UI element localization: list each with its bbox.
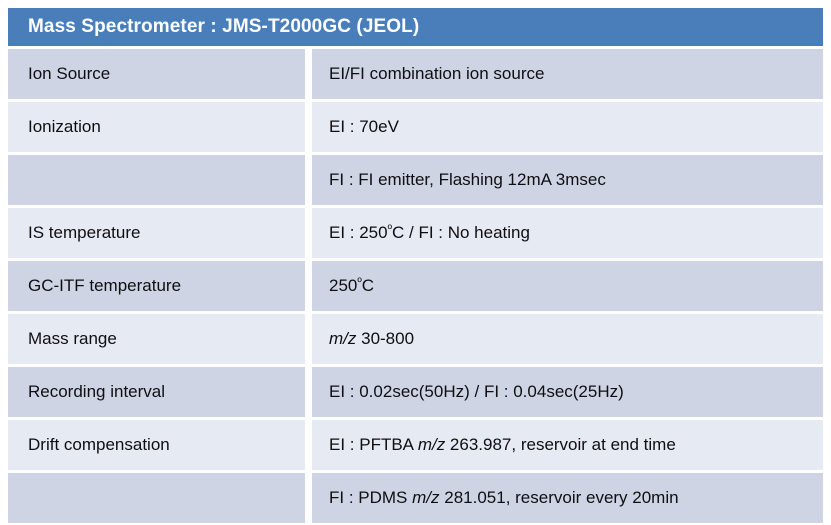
row-label-gc-itf-temperature: GC-ITF temperature bbox=[8, 261, 305, 311]
table-row: Recording interval EI : 0.02sec(50Hz) / … bbox=[8, 367, 823, 417]
value-text-pre: EI : 250 bbox=[329, 223, 388, 242]
mz-symbol: m/z bbox=[418, 435, 445, 454]
value-text-pre: FI : PDMS bbox=[329, 488, 412, 507]
row-label-ionization: Ionization bbox=[8, 102, 305, 152]
table-row: IS temperature EI : 250ºC / FI : No heat… bbox=[8, 208, 823, 258]
spec-table-title: Mass Spectrometer : JMS-T2000GC (JEOL) bbox=[8, 8, 823, 46]
row-value-drift-compensation-fi: FI : PDMS m/z 281.051, reservoir every 2… bbox=[312, 473, 823, 523]
row-value-is-temperature: EI : 250ºC / FI : No heating bbox=[312, 208, 823, 258]
column-divider bbox=[305, 155, 312, 205]
row-value-mass-range: m/z 30-800 bbox=[312, 314, 823, 364]
value-text-post: 281.051, reservoir every 20min bbox=[440, 488, 679, 507]
table-row: FI : FI emitter, Flashing 12mA 3msec bbox=[8, 155, 823, 205]
table-row: FI : PDMS m/z 281.051, reservoir every 2… bbox=[8, 473, 823, 523]
row-value-ionization: EI : 70eV bbox=[312, 102, 823, 152]
column-divider bbox=[305, 420, 312, 470]
table-row: GC-ITF temperature 250ºC bbox=[8, 261, 823, 311]
table-row: Mass range m/z 30-800 bbox=[8, 314, 823, 364]
row-value-gc-itf-temperature: 250ºC bbox=[312, 261, 823, 311]
row-label-mass-range: Mass range bbox=[8, 314, 305, 364]
column-divider bbox=[305, 261, 312, 311]
value-text-post: 263.987, reservoir at end time bbox=[445, 435, 676, 454]
row-label-is-temperature: IS temperature bbox=[8, 208, 305, 258]
column-divider bbox=[305, 314, 312, 364]
row-value-ionization-fi: FI : FI emitter, Flashing 12mA 3msec bbox=[312, 155, 823, 205]
value-text-pre: 250 bbox=[329, 276, 357, 295]
column-divider bbox=[305, 367, 312, 417]
row-label-ion-source: Ion Source bbox=[8, 49, 305, 99]
column-divider bbox=[305, 208, 312, 258]
column-divider bbox=[305, 473, 312, 523]
table-row: Ion Source EI/FI combination ion source bbox=[8, 49, 823, 99]
mz-symbol: m/z bbox=[329, 329, 356, 348]
table-row: Ionization EI : 70eV bbox=[8, 102, 823, 152]
column-divider bbox=[305, 49, 312, 99]
row-value-recording-interval: EI : 0.02sec(50Hz) / FI : 0.04sec(25Hz) bbox=[312, 367, 823, 417]
column-divider bbox=[305, 102, 312, 152]
spec-table-body: Mass Spectrometer : JMS-T2000GC (JEOL) I… bbox=[8, 8, 823, 523]
mz-symbol: m/z bbox=[412, 488, 439, 507]
table-row: Drift compensation EI : PFTBA m/z 263.98… bbox=[8, 420, 823, 470]
row-label-drift-compensation: Drift compensation bbox=[8, 420, 305, 470]
row-label-ionization-fi bbox=[8, 155, 305, 205]
value-text-post: C / FI : No heating bbox=[392, 223, 530, 242]
value-text-post: C bbox=[362, 276, 374, 295]
value-text-pre: EI : PFTBA bbox=[329, 435, 418, 454]
row-label-recording-interval: Recording interval bbox=[8, 367, 305, 417]
value-text-post: 30-800 bbox=[356, 329, 414, 348]
mass-spectrometer-spec-table: Mass Spectrometer : JMS-T2000GC (JEOL) I… bbox=[8, 8, 823, 523]
row-value-ion-source: EI/FI combination ion source bbox=[312, 49, 823, 99]
row-value-drift-compensation-ei: EI : PFTBA m/z 263.987, reservoir at end… bbox=[312, 420, 823, 470]
spec-table-header-row: Mass Spectrometer : JMS-T2000GC (JEOL) bbox=[8, 8, 823, 46]
row-label-drift-compensation-fi bbox=[8, 473, 305, 523]
